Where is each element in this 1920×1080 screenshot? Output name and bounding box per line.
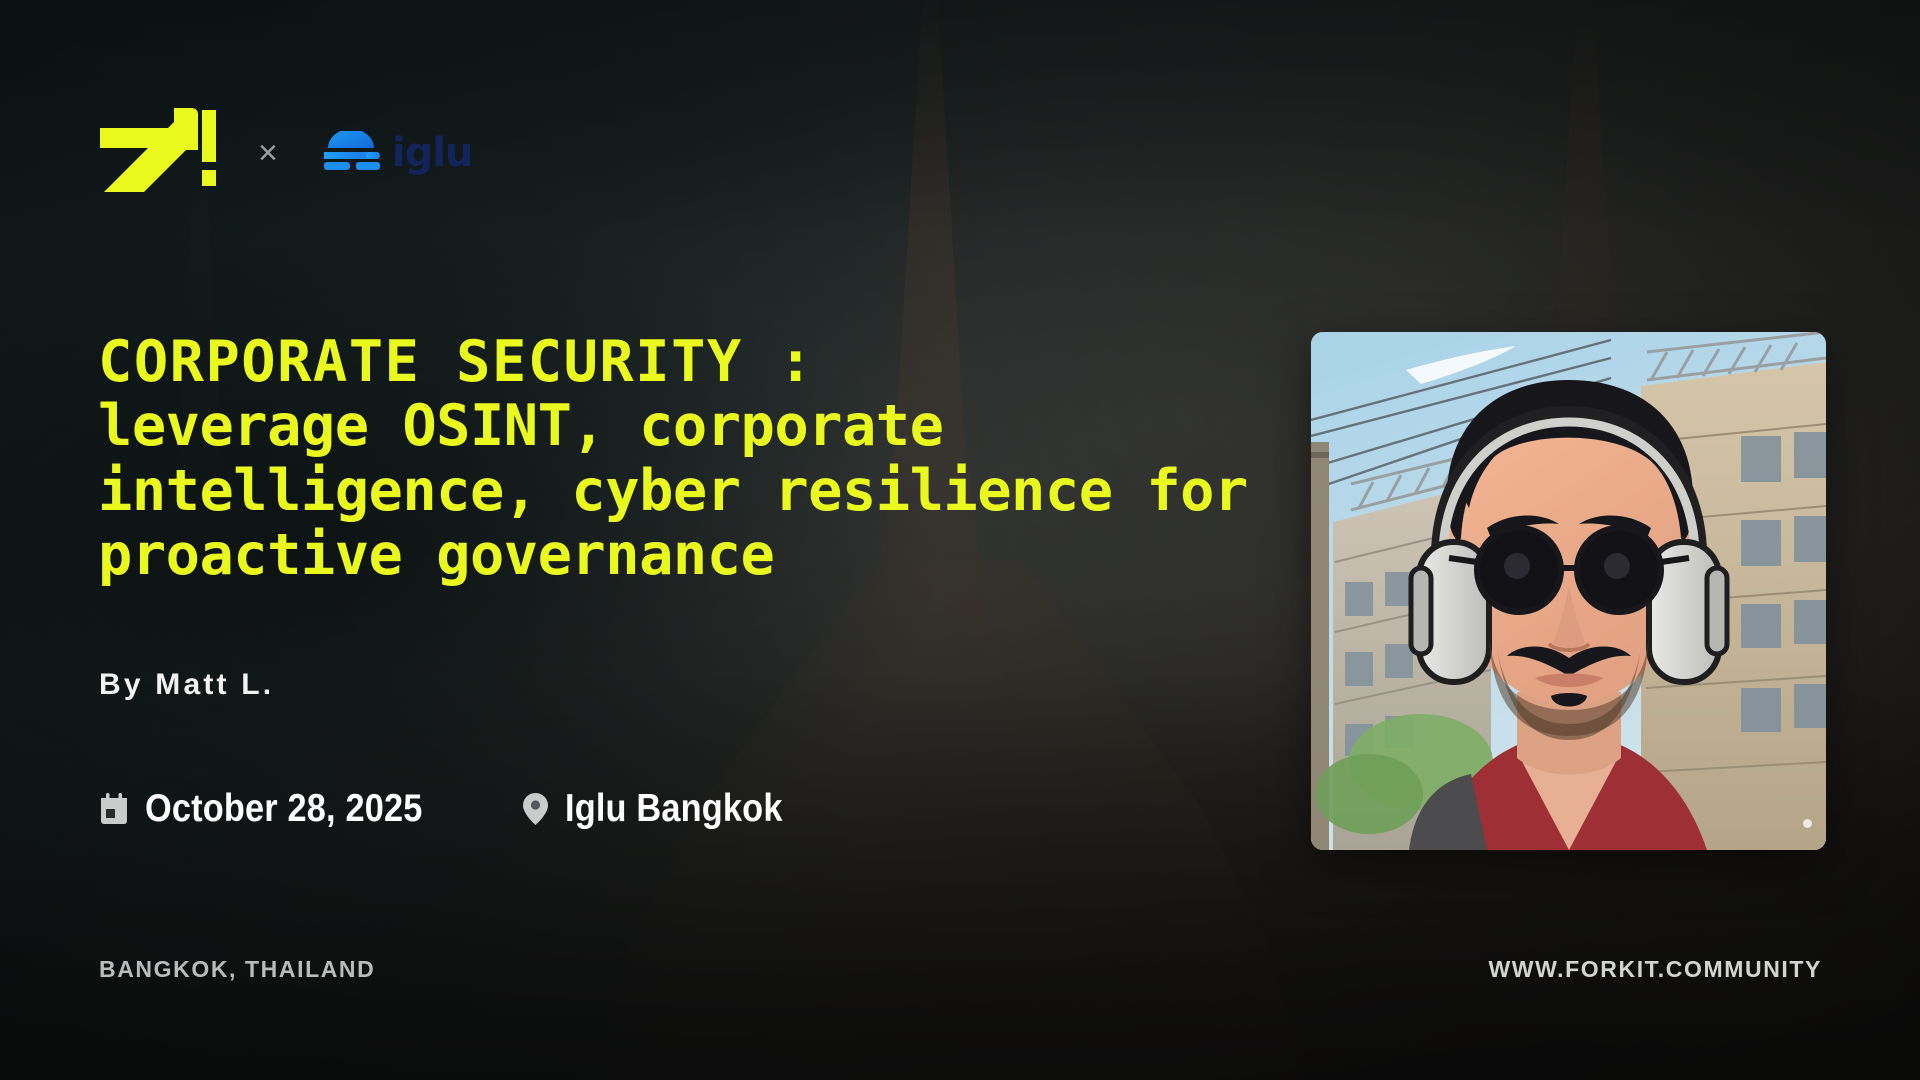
map-pin-icon bbox=[522, 792, 549, 826]
iglu-mark-icon bbox=[320, 131, 382, 175]
speaker-portrait bbox=[1311, 332, 1826, 850]
meta-row: October 28, 2025 Iglu Bangkok bbox=[99, 787, 813, 831]
event-banner: × bbox=[0, 0, 1920, 1080]
logo-row: × bbox=[98, 108, 472, 197]
event-location: Iglu Bangkok bbox=[522, 787, 812, 831]
portrait-corner-dot bbox=[1803, 819, 1812, 828]
event-date-label: October 28, 2025 bbox=[145, 787, 423, 831]
headline-body: leverage OSINT, corporate intelligence, … bbox=[98, 394, 1258, 587]
event-date: October 28, 2025 bbox=[99, 787, 460, 831]
forkit-logo[interactable] bbox=[98, 108, 216, 197]
calendar-icon bbox=[99, 793, 129, 826]
headline-eyebrow: CORPORATE SECURITY : bbox=[98, 330, 1258, 394]
footer-website[interactable]: WWW.FORKIT.COMMUNITY bbox=[1488, 956, 1822, 983]
iglu-logo[interactable]: iglu bbox=[320, 131, 473, 175]
footer-city: BANGKOK, THAILAND bbox=[99, 956, 375, 983]
byline: By Matt L. bbox=[99, 668, 274, 702]
headline: CORPORATE SECURITY : leverage OSINT, cor… bbox=[98, 330, 1258, 588]
event-location-label: Iglu Bangkok bbox=[565, 787, 783, 831]
cross-separator-icon: × bbox=[258, 136, 278, 170]
iglu-wordmark: iglu bbox=[392, 133, 473, 173]
